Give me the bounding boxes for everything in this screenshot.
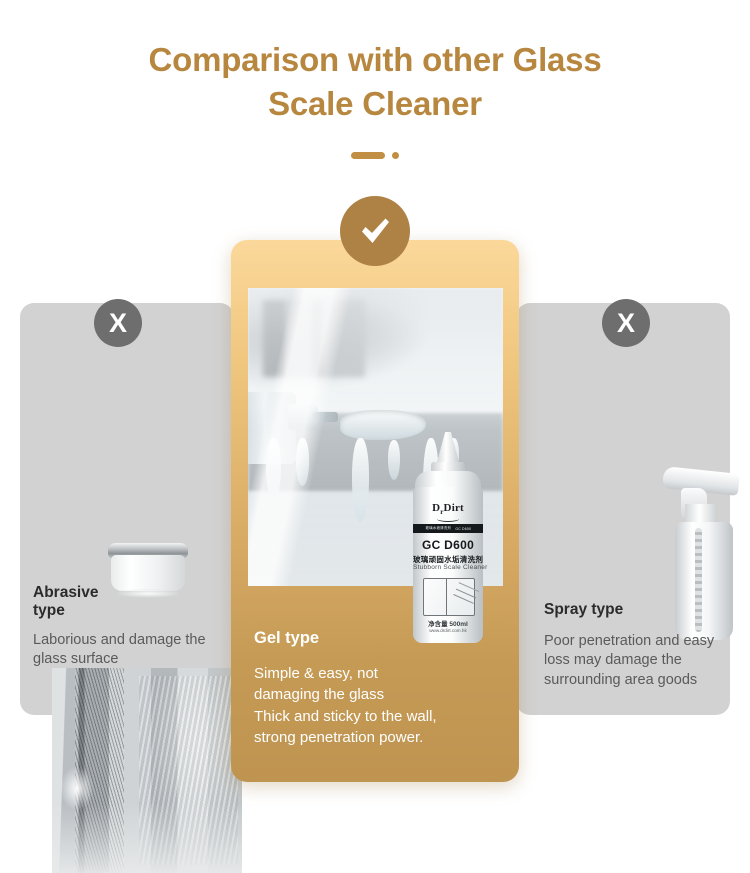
product-bottle: DrDirt 玻璃水垢清洗剂 GC D600 GC D600 玻璃顽固水垢清洗剂… [409,432,487,645]
bottle-product-code: GC D600 [413,538,483,552]
gel-body-line-3: Thick and sticky to the wall, [254,706,510,727]
white-sprayer-bottle [675,522,733,640]
spray-heading: Spray type [544,601,724,619]
bottle-website: www.drdirt.com.hk [413,628,483,633]
page-title: Comparison with other Glass Scale Cleane… [0,38,750,125]
abrasive-body-text: Laborious and damage the glass surface [33,631,215,670]
brand-rest: Dirt [444,502,464,514]
title-divider [0,148,750,162]
gel-body-line-2: damaging the glass [254,684,510,705]
bottle-name-en: Stubborn Scale Cleaner [413,564,483,571]
shower-door-icon [423,578,475,616]
bottle-brand-logo: DrDirt [413,502,483,516]
gel-body-line-1: Simple & easy, not [254,663,510,684]
divider-dot-icon [392,152,399,159]
abrasive-photo [52,668,242,873]
stripe-text-left: 玻璃水垢清洗剂 [425,526,451,531]
title-line-2: Scale Cleaner [0,82,750,126]
title-line-1: Comparison with other Glass [148,41,601,78]
cross-icon-spray: X [602,299,650,347]
brand-swoosh-icon [437,516,459,522]
cross-icon-abrasive: X [94,299,142,347]
gel-body-line-4: strong penetration power. [254,727,510,748]
bottle-stripe: 玻璃水垢清洗剂 GC D600 [413,524,483,533]
divider-dash-icon [351,152,385,159]
gel-body-text: Simple & easy, not damaging the glass Th… [254,663,510,748]
abrasive-heading-line-1: Abrasive [33,584,98,601]
photo-bottom-fade [52,803,242,873]
brand-initial: D [432,502,440,514]
spray-body-text: Poor penetration and easy loss may damag… [544,632,736,690]
infographic-canvas: Comparison with other Glass Scale Cleane… [0,0,750,830]
stripe-text-right: GC D600 [455,527,471,531]
bottle-nozzle [436,432,460,466]
abrasive-heading-line-2: type [33,602,65,619]
check-icon-gel [340,196,410,266]
bottle-volume: 净含量 500ml [413,618,483,628]
abrasive-heading: Abrasive type [33,584,203,621]
